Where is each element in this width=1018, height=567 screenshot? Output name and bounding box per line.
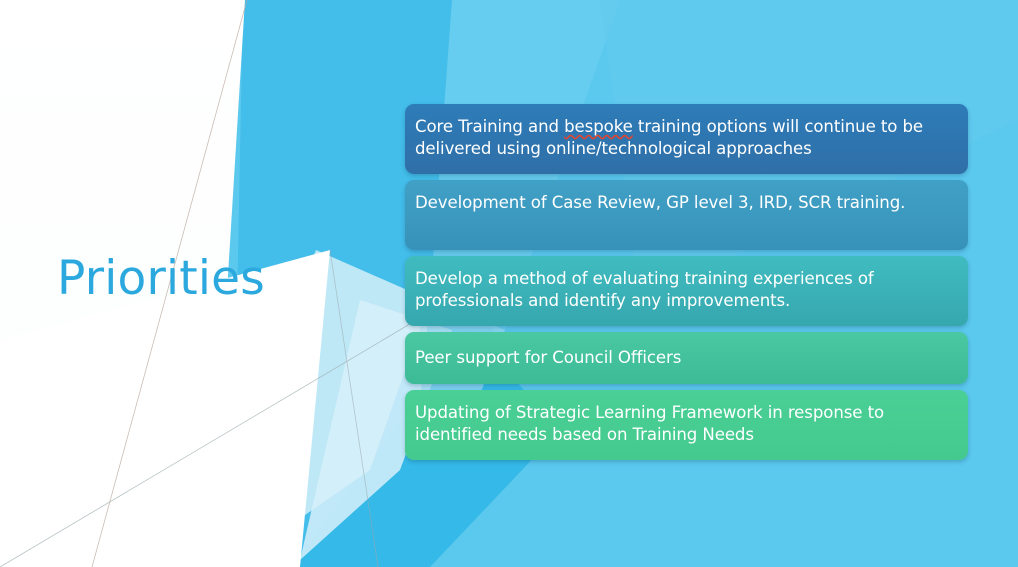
- process-list: Core Training and bespoke training optio…: [405, 104, 968, 460]
- spellcheck-misspelled-word: bespoke: [564, 117, 633, 136]
- process-box-1-text-before: Core Training and: [415, 117, 564, 136]
- process-box-5-label: Updating of Strategic Learning Framework…: [415, 402, 954, 446]
- process-box-1[interactable]: Core Training and bespoke training optio…: [405, 104, 968, 174]
- process-box-4[interactable]: Peer support for Council Officers: [405, 332, 968, 384]
- process-box-4-label: Peer support for Council Officers: [415, 347, 681, 369]
- process-box-3[interactable]: Develop a method of evaluating training …: [405, 256, 968, 326]
- process-box-5[interactable]: Updating of Strategic Learning Framework…: [405, 390, 968, 460]
- presentation-slide: Priorities Core Training and bespoke tra…: [0, 0, 1018, 567]
- process-box-1-label: Core Training and bespoke training optio…: [415, 116, 954, 160]
- process-box-2-label: Development of Case Review, GP level 3, …: [415, 192, 954, 214]
- page-title: Priorities: [57, 254, 265, 303]
- process-box-2[interactable]: Development of Case Review, GP level 3, …: [405, 180, 968, 250]
- process-box-3-label: Develop a method of evaluating training …: [415, 268, 954, 312]
